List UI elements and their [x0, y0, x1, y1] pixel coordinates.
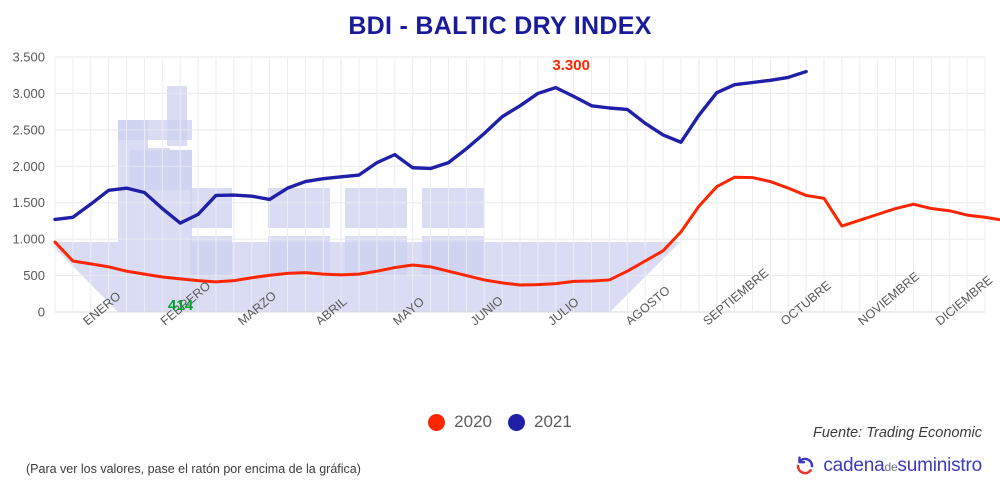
legend-item-2020[interactable]: 2020 — [428, 412, 492, 432]
x-tick-label: NOVIEMBRE — [855, 269, 921, 325]
y-tick-label: 1.000 — [12, 232, 45, 247]
chart-page: BDI - BALTIC DRY INDEX — [0, 0, 1000, 500]
ship-watermark — [55, 86, 680, 312]
x-tick-label: SEPTIEMBRE — [700, 266, 771, 325]
brand-logo[interactable]: cadenadesuministro — [794, 455, 982, 477]
chart-plot-area[interactable]: 05001.0001.5002.0002.5003.0003.500 ENERO… — [0, 50, 1000, 325]
y-axis-labels: 05001.0001.5002.0002.5003.0003.500 — [12, 50, 45, 320]
legend-label: 2021 — [534, 412, 572, 432]
legend-item-2021[interactable]: 2021 — [508, 412, 572, 432]
legend-marker-icon — [428, 414, 445, 431]
y-tick-label: 0 — [38, 305, 45, 320]
page-title: BDI - BALTIC DRY INDEX — [0, 12, 1000, 41]
brand-part-suministro: suministro — [897, 455, 982, 476]
hover-hint-text: (Para ver los valores, pase el ratón por… — [26, 462, 361, 476]
chart-svg[interactable]: 05001.0001.5002.0002.5003.0003.500 ENERO… — [0, 50, 1000, 325]
brand-part-cadena: cadena — [823, 455, 884, 476]
x-tick-label: DICIEMBRE — [933, 273, 995, 325]
annotation-min-2020: 414 — [168, 297, 194, 314]
brand-part-de: de — [884, 460, 897, 474]
y-tick-label: 1.500 — [12, 195, 45, 210]
legend-marker-icon — [508, 414, 525, 431]
annotation-max-2021: 3.300 — [552, 57, 590, 74]
y-tick-label: 3.500 — [12, 50, 45, 65]
legend-label: 2020 — [454, 412, 492, 432]
y-tick-label: 500 — [23, 268, 45, 283]
circular-arrow-logo-icon — [794, 455, 816, 477]
y-tick-label: 2.000 — [12, 159, 45, 174]
source-attribution: Fuente: Trading Economic — [813, 425, 982, 441]
y-tick-label: 2.500 — [12, 122, 45, 137]
y-tick-label: 3.000 — [12, 86, 45, 101]
